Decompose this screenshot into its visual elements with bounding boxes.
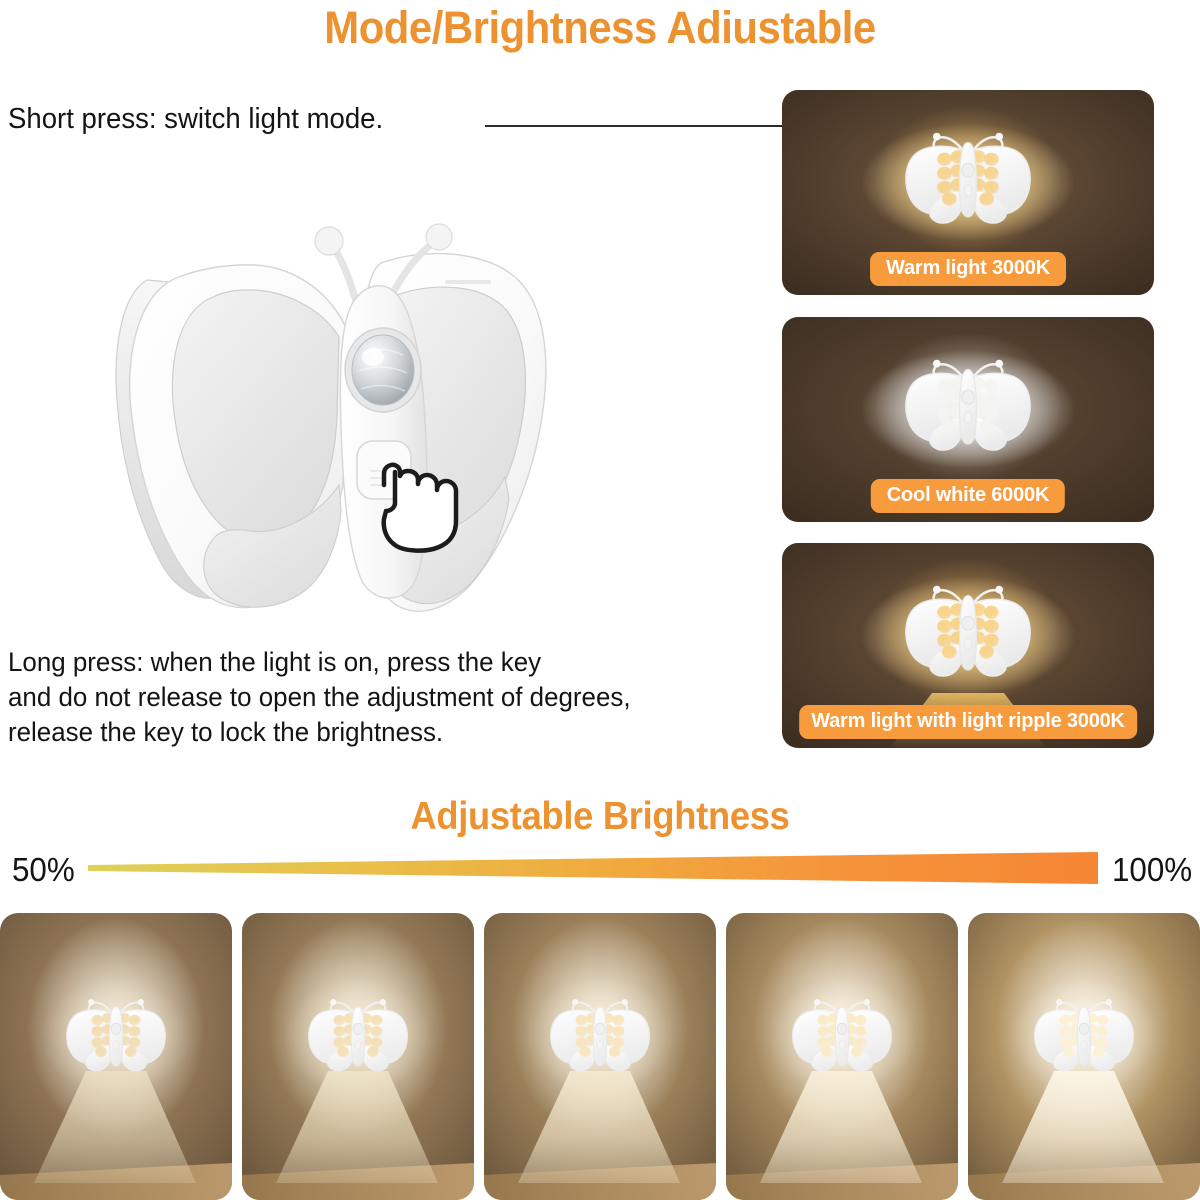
antenna-ball-left xyxy=(315,227,343,255)
long-press-line-2: and do not release to open the adjustmen… xyxy=(8,680,723,715)
brightness-photo-3 xyxy=(484,913,716,1200)
pir-motion-sensor xyxy=(345,328,421,412)
brightness-photo-2 xyxy=(242,913,474,1200)
butterfly-lamp xyxy=(768,977,917,1095)
brightness-photo-5 xyxy=(968,913,1200,1200)
brightness-section-title: Adjustable Brightness xyxy=(42,795,1158,839)
mode-badge-warm-light-ripple: Warm light with light ripple 3000K xyxy=(799,705,1137,739)
antenna-ball-right xyxy=(426,224,452,250)
callout-connector-line xyxy=(485,125,785,127)
mode-badge-cool-white: Cool white 6000K xyxy=(871,479,1065,513)
brightness-photo-row xyxy=(0,913,1200,1200)
butterfly-lamp xyxy=(284,977,433,1095)
butterfly-lamp xyxy=(874,558,1061,706)
short-press-instruction: Short press: switch light mode. xyxy=(8,103,383,136)
brightness-gradient-bar[interactable] xyxy=(88,852,1098,884)
butterfly-lamp xyxy=(874,105,1061,253)
mode-card-warm-light[interactable]: Warm light 3000K xyxy=(782,90,1154,295)
long-press-line-3: release the key to lock the brightness. xyxy=(8,715,723,750)
butterfly-lamp xyxy=(1010,977,1159,1095)
mode-badge-warm-light: Warm light 3000K xyxy=(870,252,1066,286)
butterfly-lamp xyxy=(42,977,191,1095)
long-press-line-1: Long press: when the light is on, press … xyxy=(8,645,723,680)
brightness-photo-1 xyxy=(0,913,232,1200)
mode-card-warm-light-ripple[interactable]: Warm light with light ripple 3000K xyxy=(782,543,1154,748)
brightness-min-label: 50% xyxy=(12,851,75,889)
hero-product-photo xyxy=(95,185,565,625)
page-title: Mode/Brightness Adiustable xyxy=(42,2,1158,54)
butterfly-lamp xyxy=(874,332,1061,480)
long-press-instruction: Long press: when the light is on, press … xyxy=(8,645,723,750)
product-brand-text xyxy=(445,280,491,284)
brightness-photo-4 xyxy=(726,913,958,1200)
butterfly-lamp xyxy=(526,977,675,1095)
brightness-max-label: 100% xyxy=(1112,851,1192,889)
mode-card-cool-white[interactable]: Cool white 6000K xyxy=(782,317,1154,522)
